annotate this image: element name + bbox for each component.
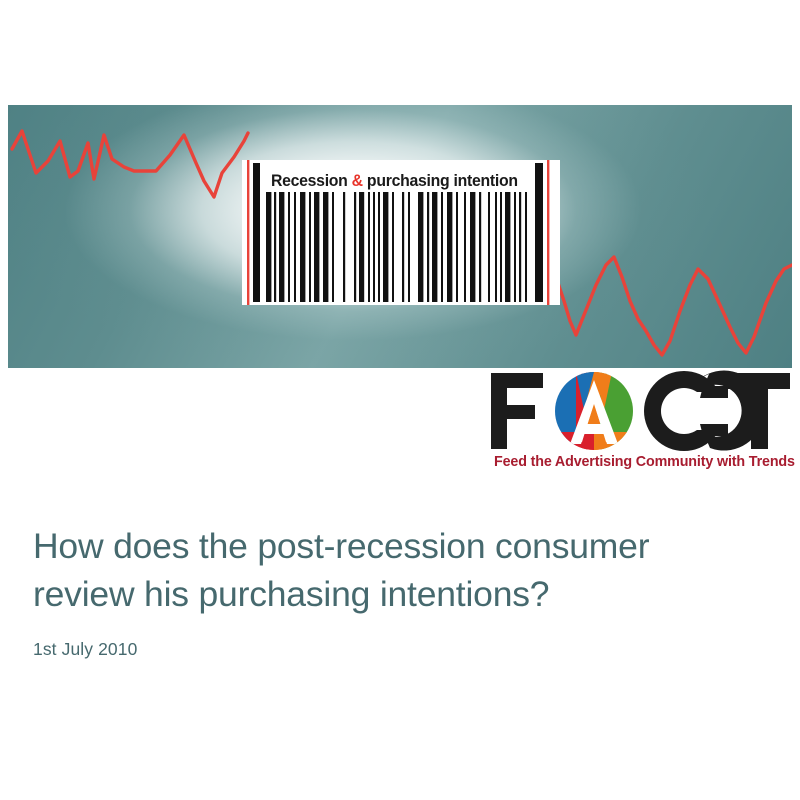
logo-tagline: Feed the Advertising Community with Tren… — [494, 453, 788, 471]
banner-image: Recession & purchasing intention — [8, 105, 792, 368]
barcode-caption: Recession & purchasing intention — [266, 169, 523, 193]
barcode-caption-ampersand: & — [352, 171, 363, 190]
barcode-caption-prefix: Recession — [271, 171, 352, 190]
fact-logo: Feed the Advertising Community with Tren… — [488, 370, 794, 480]
barcode-graphic: Recession & purchasing intention — [242, 160, 560, 305]
title-block: How does the post-recession consumer rev… — [33, 522, 763, 660]
logo-letter-f — [491, 373, 543, 449]
presentation-date: 1st July 2010 — [33, 638, 763, 660]
barcode-caption-suffix: purchasing intention — [363, 171, 518, 190]
trendline-left-segment — [12, 131, 248, 197]
slide-canvas: Recession & purchasing intention — [0, 0, 800, 800]
page-title: How does the post-recession consumer rev… — [33, 522, 763, 618]
page-title-line-1: How does the post-recession consumer — [33, 522, 763, 570]
logo-letter-a-roundel — [555, 372, 634, 452]
page-title-line-2: review his purchasing intentions? — [33, 570, 763, 618]
